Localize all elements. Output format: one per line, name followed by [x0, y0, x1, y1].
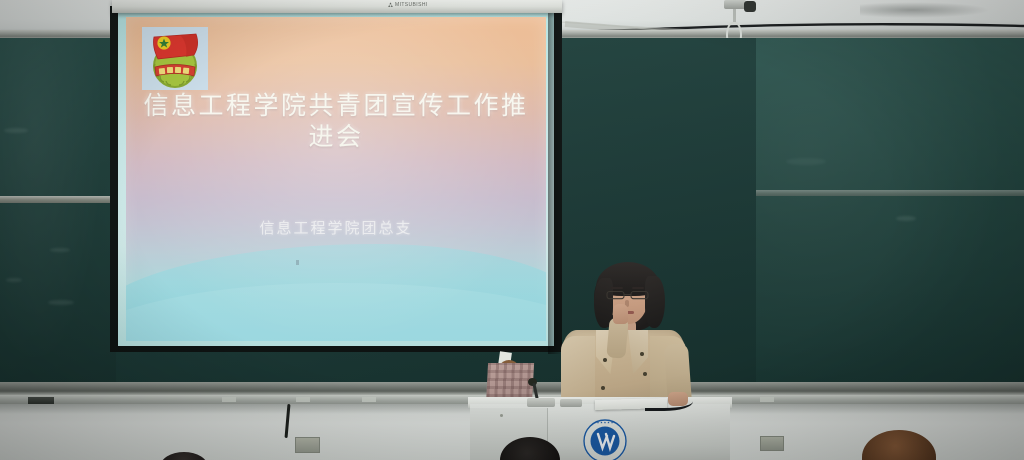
classroom-photo-scene: MITSUBISHI — [0, 0, 1024, 460]
svg-text:★ ★ ★ ★ ★: ★ ★ ★ ★ ★ — [597, 420, 614, 424]
slide-subtitle: 信息工程学院团总支 — [132, 217, 540, 238]
eyeglasses-icon — [606, 290, 650, 300]
screen-pulley-head — [724, 0, 746, 9]
chalk-piece — [296, 397, 310, 402]
coat-button — [643, 372, 647, 376]
speaker-coat-left-panel — [561, 336, 595, 406]
wall-outlet[interactable] — [295, 437, 320, 453]
podium-screw — [500, 414, 503, 417]
screen-pulley-knob — [744, 1, 756, 12]
speaker-left-hand — [613, 304, 628, 324]
chalk-piece — [760, 397, 774, 402]
projection-screen-housing — [112, 0, 562, 13]
projector-screen-brand-label: MITSUBISHI — [395, 2, 428, 8]
blackboard-middle-rail-left — [0, 196, 118, 203]
microphone-base-secondary — [560, 399, 582, 407]
three-diamonds-logo — [387, 2, 394, 9]
chalk-piece — [362, 397, 376, 402]
coat-button — [603, 358, 607, 362]
wall-outlet[interactable] — [760, 436, 784, 451]
speaker-eyebrow-left — [611, 287, 623, 289]
communist-youth-league-emblem — [142, 27, 208, 90]
university-seal: ★ ★ ★ ★ ★ · · · · · · · — [575, 417, 635, 460]
blackboard-right-panel — [756, 38, 1024, 410]
blackboard-eraser — [28, 397, 54, 404]
speaker-eyebrow-right — [632, 287, 644, 289]
blackboard-left-panel — [0, 38, 116, 410]
projection-screen-edge-shadow — [548, 12, 562, 354]
coat-button — [640, 352, 644, 356]
mouse-cursor-artifact — [296, 260, 299, 265]
slide-title: 信息工程学院共青团宣传工作推进会 — [132, 91, 540, 153]
presentation-slide[interactable]: 信息工程学院共青团宣传工作推进会 信息工程学院团总支 — [126, 17, 546, 341]
coat-button — [601, 386, 605, 390]
speaker-hair-right — [645, 276, 665, 328]
chalk-piece — [222, 397, 236, 402]
blackboard-middle-rail-right — [756, 190, 1024, 196]
microphone-base — [527, 398, 555, 407]
